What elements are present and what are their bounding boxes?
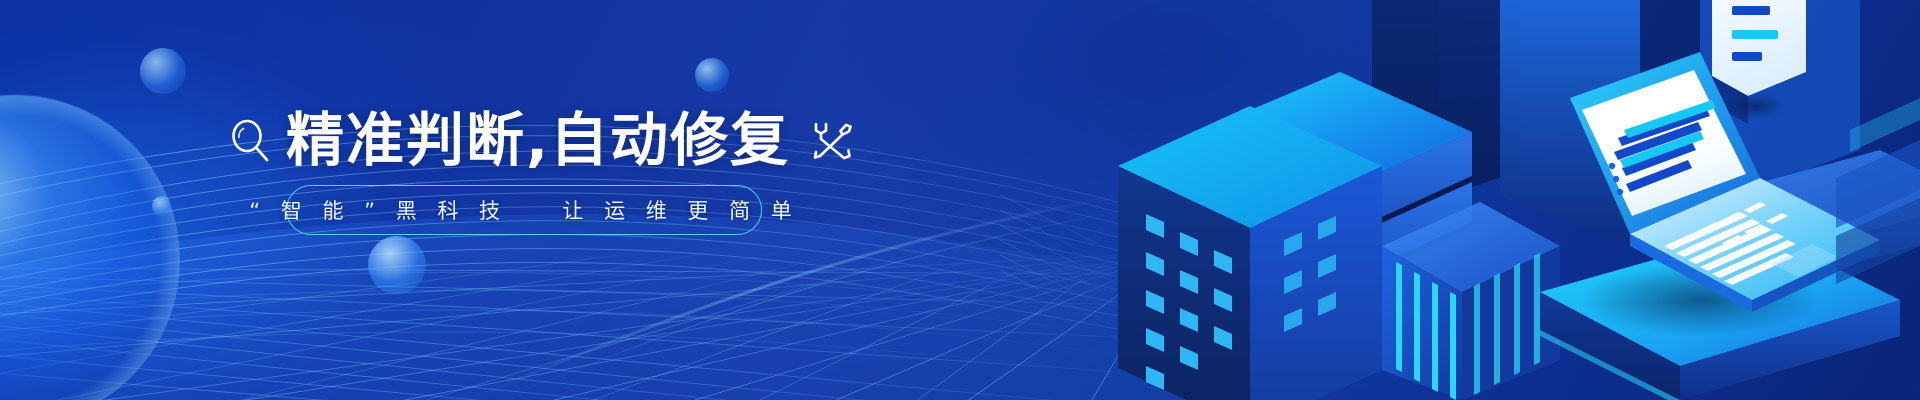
- search-icon: [228, 117, 274, 163]
- page-title: 精准判断,自动修复: [286, 104, 790, 176]
- wrench-icon: [804, 113, 858, 167]
- isometric-building-tower: [1118, 106, 1382, 400]
- headline-row: 精准判断,自动修复: [228, 104, 868, 176]
- promo-banner: 精准判断,自动修复: [0, 0, 1920, 400]
- subtitle-text: “ 智 能 ” 黑 科 技 让 运 维 更 简 单: [249, 195, 799, 225]
- isometric-illustration: [1000, 0, 1920, 400]
- subtitle-pill: “ 智 能 ” 黑 科 技 让 运 维 更 简 单: [286, 185, 762, 235]
- headline-block: 精准判断,自动修复: [228, 104, 868, 176]
